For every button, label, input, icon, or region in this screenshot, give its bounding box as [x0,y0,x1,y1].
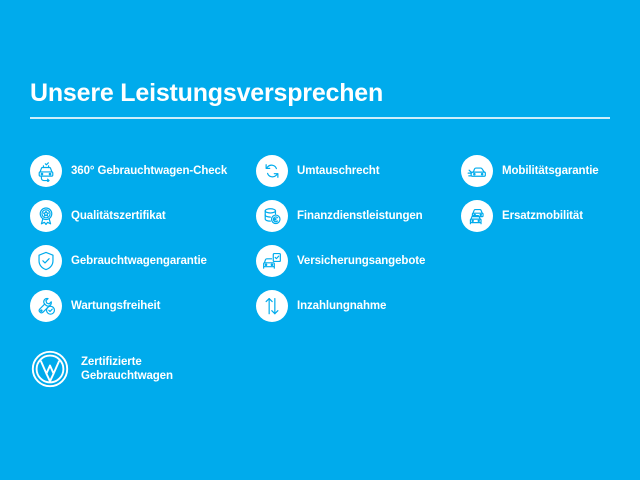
volkswagen-logo-icon [30,349,70,389]
feature-item-qualitaetszertifikat[interactable]: Qualitätszertifikat [30,193,250,238]
shield-check-icon [30,245,62,277]
up-down-arrows-icon [256,290,288,322]
feature-column-2: Umtauschrecht Finanzdienstleistungen [256,148,456,328]
feature-grid: 360° Gebrauchtwagen-Check Qualitätszerti… [0,148,640,326]
title-divider [30,117,610,119]
feature-item-gebrauchtwagen-check[interactable]: 360° Gebrauchtwagen-Check [30,148,250,193]
car-check-circle-icon [30,155,62,187]
feature-label: Finanzdienstleistungen [297,209,423,223]
wrench-check-icon [30,290,62,322]
feature-item-versicherungsangebote[interactable]: Versicherungsangebote [256,238,456,283]
feature-item-inzahlungnahme[interactable]: Inzahlungnahme [256,283,456,328]
tow-car-icon [461,155,493,187]
feature-item-finanzdienstleistungen[interactable]: Finanzdienstleistungen [256,193,456,238]
certified-badge-text: Zertifizierte Gebrauchtwagen [81,355,173,384]
feature-column-1: 360° Gebrauchtwagen-Check Qualitätszerti… [30,148,250,328]
feature-label: Ersatzmobilität [502,209,583,223]
feature-label: Inzahlungnahme [297,299,386,313]
feature-label: Umtauschrecht [297,164,379,178]
feature-label: Mobilitätsgarantie [502,164,599,178]
promo-slide: Unsere Leistungsversprechen [0,0,640,480]
exchange-arrows-icon [256,155,288,187]
feature-label: Qualitätszertifikat [71,209,166,223]
coins-euro-icon [256,200,288,232]
feature-item-mobilitaetsgarantie[interactable]: Mobilitätsgarantie [461,148,636,193]
feature-label: 360° Gebrauchtwagen-Check [71,164,227,178]
feature-item-umtauschrecht[interactable]: Umtauschrecht [256,148,456,193]
page-title: Unsere Leistungsversprechen [30,78,610,108]
award-rosette-icon [30,200,62,232]
header: Unsere Leistungsversprechen [30,78,610,119]
certified-badge: Zertifizierte Gebrauchtwagen [30,349,173,389]
feature-item-wartungsfreiheit[interactable]: Wartungsfreiheit [30,283,250,328]
feature-column-3: Mobilitätsgarantie E [461,148,636,238]
car-document-check-icon [256,245,288,277]
feature-label: Gebrauchtwagengarantie [71,254,207,268]
feature-item-ersatzmobilitaet[interactable]: Ersatzmobilität [461,193,636,238]
feature-label: Wartungsfreiheit [71,299,160,313]
feature-item-gebrauchtwagengarantie[interactable]: Gebrauchtwagengarantie [30,238,250,283]
feature-label: Versicherungsangebote [297,254,425,268]
two-cars-icon [461,200,493,232]
